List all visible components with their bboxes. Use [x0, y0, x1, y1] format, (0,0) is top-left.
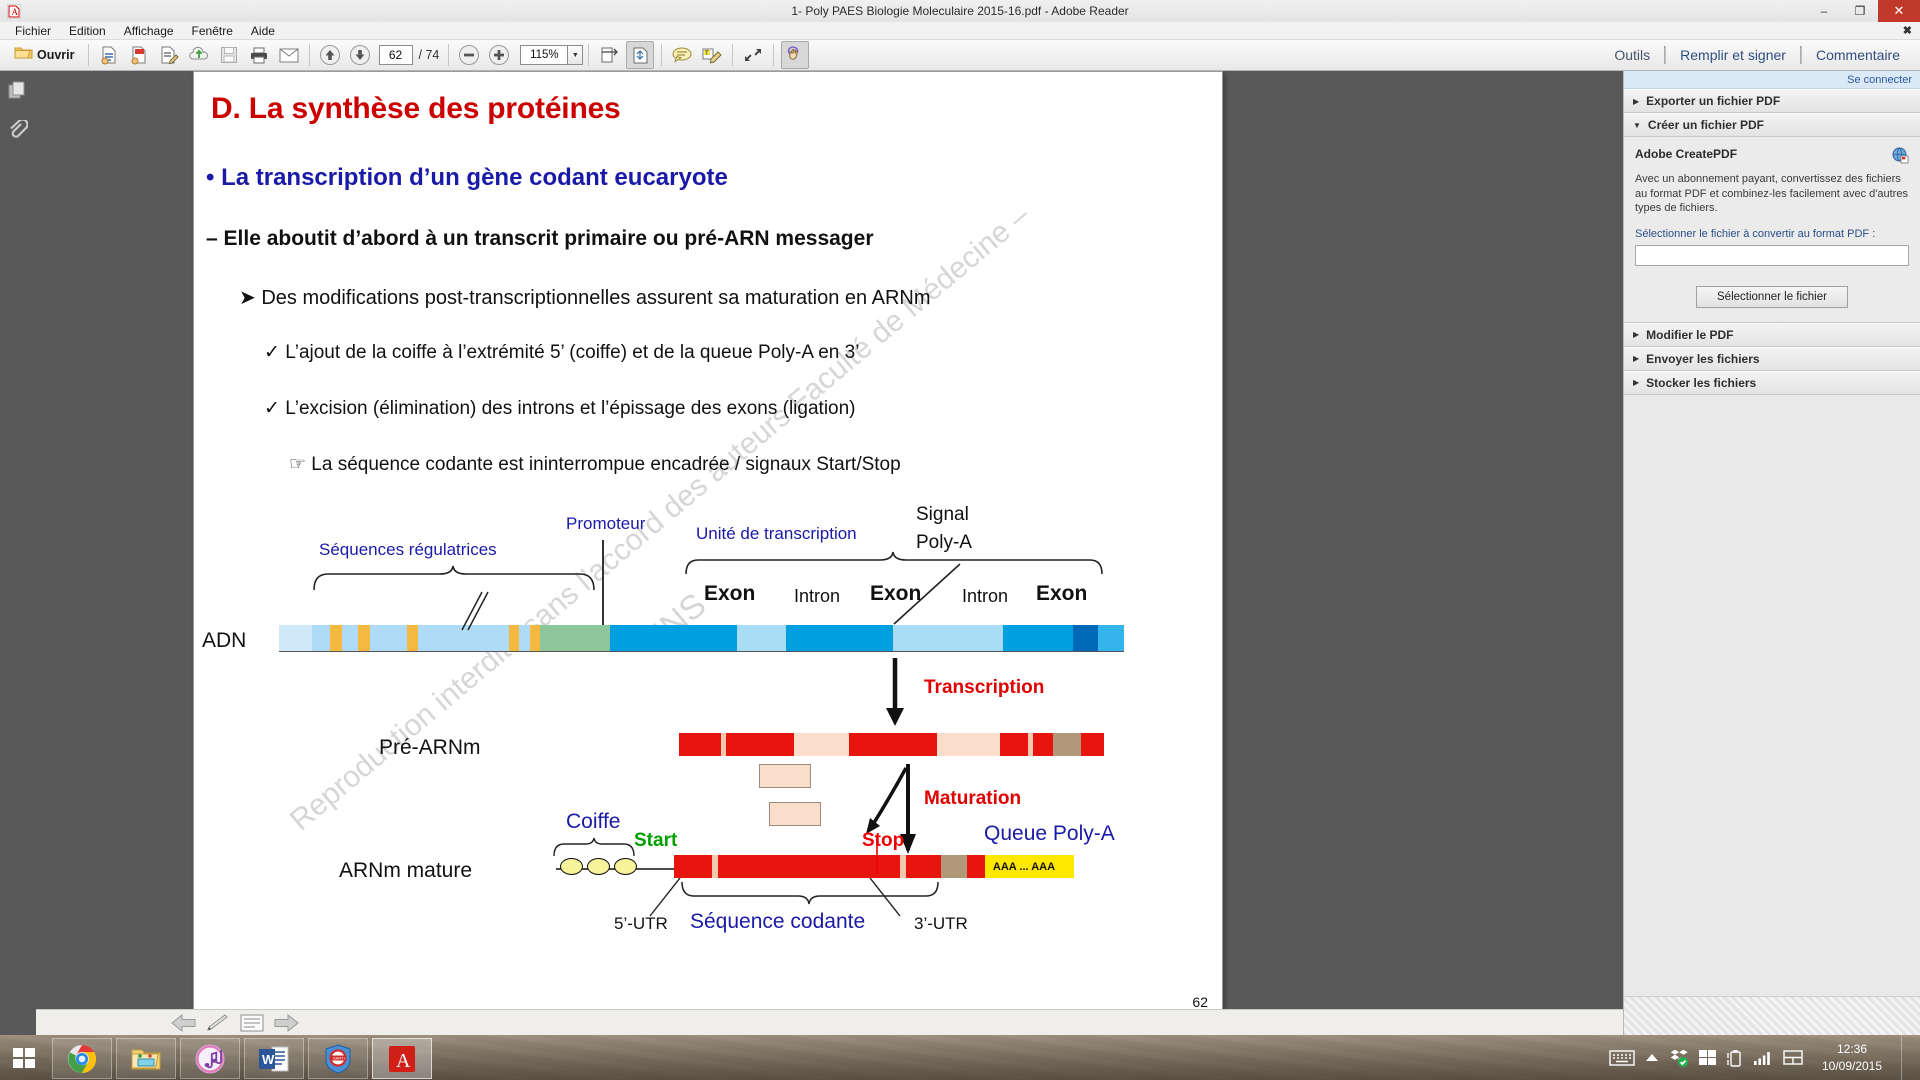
zoom-out-icon[interactable]	[456, 42, 482, 68]
createpdf-description: Avec un abonnement payant, convertissez …	[1635, 172, 1909, 216]
segment-12	[610, 625, 738, 651]
page-total-label: / 74	[419, 48, 440, 62]
menu-fenetre[interactable]: Fenêtre	[183, 22, 242, 40]
print-icon[interactable]	[246, 42, 272, 68]
segment-0	[674, 855, 712, 878]
svg-text:T: T	[705, 51, 709, 57]
polya-tail-label: AAA ... AAA	[985, 858, 1063, 875]
cap-oval-2	[587, 858, 610, 875]
createpdf-panel: Adobe CreatePDF Avec un abonnement payan…	[1624, 137, 1920, 323]
window-title: 1- Poly PAES Biologie Moleculaire 2015-1…	[0, 0, 1920, 22]
brace-coiffe	[552, 836, 637, 858]
segment-6	[407, 625, 419, 651]
main-toolbar: Ouvrir 62 / 74	[0, 40, 1920, 71]
slide-bullet-4: ✓ L’ajout de la coiffe à l’extrémité 5’ …	[264, 341, 859, 364]
signin-link[interactable]: Se connecter	[1847, 74, 1912, 86]
segment-4	[906, 855, 941, 878]
segment-4	[358, 625, 370, 651]
label-coiffe: Coiffe	[566, 810, 620, 834]
comment-icon[interactable]	[669, 42, 695, 68]
toolbar-separator-6	[732, 44, 733, 66]
touch-keyboard-icon[interactable]	[1609, 1049, 1635, 1067]
segment-18	[1098, 625, 1124, 651]
window-controls: – ❐ ✕	[1806, 0, 1920, 22]
segment-9	[519, 625, 529, 651]
show-hidden-icons-icon[interactable]	[1645, 1053, 1659, 1063]
pdf-page: Reproduction interdite sans l’accord des…	[193, 71, 1223, 1019]
section-stocker-fichiers-label: Stocker les fichiers	[1646, 376, 1756, 390]
tools-right-panel: Se connecter ▶ Exporter un fichier PDF ▼…	[1623, 71, 1920, 1035]
section-creer-pdf[interactable]: ▼ Créer un fichier PDF	[1624, 113, 1920, 137]
label-intron-1: Intron	[794, 586, 840, 607]
previous-view-icon[interactable]	[171, 1013, 197, 1033]
email-icon[interactable]	[276, 42, 302, 68]
windows-taskbar: W SARTI A	[0, 1035, 1920, 1080]
excised-intron-box-2	[769, 802, 821, 826]
select-hand-icon[interactable]	[781, 41, 809, 69]
label-utr3: 3’-UTR	[914, 914, 968, 934]
slide-page-number: 62	[1192, 994, 1208, 1010]
menu-aide[interactable]: Aide	[242, 22, 284, 40]
highlight-text-icon[interactable]: T	[699, 42, 725, 68]
section-exporter-pdf[interactable]: ▶ Exporter un fichier PDF	[1624, 89, 1920, 113]
excised-intron-box-1	[759, 764, 811, 788]
chevron-down-icon: ▼	[1633, 121, 1641, 130]
document-bottom-nav	[36, 1009, 1624, 1035]
segment-6	[967, 855, 985, 878]
create-pdf-icon[interactable]	[96, 42, 122, 68]
page-thumbnails-icon[interactable]	[0, 71, 36, 111]
tool-remplir-signer-link[interactable]: Remplir et signer	[1666, 47, 1800, 63]
svg-text:SARTI: SARTI	[333, 1055, 345, 1060]
page-display-icon[interactable]	[239, 1013, 265, 1033]
label-queue-polya: Queue Poly-A	[984, 822, 1115, 846]
left-navigation-rail	[0, 71, 37, 1035]
label-unite-transcription: Unité de transcription	[696, 524, 857, 544]
segment-10	[1081, 733, 1104, 756]
slide-bullet-5: ✓ L’excision (élimination) des introns e…	[264, 397, 856, 420]
createpdf-globe-icon	[1892, 147, 1909, 167]
chevron-right-icon: ▶	[1633, 378, 1639, 387]
section-modifier-pdf[interactable]: ▶ Modifier le PDF	[1624, 323, 1920, 347]
label-maturation: Maturation	[924, 788, 1021, 810]
segment-14	[786, 625, 893, 651]
open-button-label: Ouvrir	[37, 48, 75, 62]
segment-0	[279, 625, 312, 651]
taskitem-antivirus[interactable]: SARTI	[308, 1038, 368, 1079]
document-viewport[interactable]: Reproduction interdite sans l’accord des…	[36, 71, 1624, 1035]
adobe-reader-window: A 1- Poly PAES Biologie Moleculaire 2015…	[0, 0, 1920, 1080]
section-envoyer-fichiers-label: Envoyer les fichiers	[1646, 352, 1759, 366]
toolbar-right-links: Outils Remplir et signer Commentaire	[1600, 46, 1914, 64]
next-view-icon[interactable]	[273, 1013, 299, 1033]
menu-bar: Fichier Edition Affichage Fenêtre Aide ✖	[0, 22, 1920, 40]
title-bar: A 1- Poly PAES Biologie Moleculaire 2015…	[0, 0, 1920, 23]
toolbar-separator-7	[773, 44, 774, 66]
fit-width-icon[interactable]	[596, 42, 622, 68]
label-exon-2: Exon	[870, 582, 921, 606]
export-pdf-icon[interactable]	[126, 42, 152, 68]
label-arnm-mature: ARNm mature	[339, 859, 472, 883]
label-sequences-regulatrices: Séquences régulatrices	[319, 540, 497, 560]
open-button[interactable]: Ouvrir	[6, 41, 83, 69]
zoom-dropdown-caret-icon[interactable]: ▼	[567, 45, 583, 65]
windows-start-icon[interactable]	[0, 1035, 48, 1080]
page-down-icon[interactable]	[347, 42, 373, 68]
label-intron-2: Intron	[962, 586, 1008, 607]
segment-6	[1000, 733, 1028, 756]
slide-bullet-2: – Elle aboutit d’abord à un transcrit pr…	[206, 227, 874, 251]
segment-1	[312, 625, 331, 651]
section-envoyer-fichiers[interactable]: ▶ Envoyer les fichiers	[1624, 347, 1920, 371]
createpdf-select-label: Sélectionner le fichier à convertir au f…	[1635, 228, 1909, 240]
segment-0	[679, 733, 721, 756]
menu-affichage[interactable]: Affichage	[115, 22, 183, 40]
chevron-right-icon: ▶	[1633, 330, 1639, 339]
segment-9	[1053, 733, 1081, 756]
segment-10	[530, 625, 540, 651]
menu-edition[interactable]: Edition	[60, 22, 115, 40]
signin-bar: Se connecter	[1624, 71, 1920, 89]
label-signal-polya-line1: Signal	[916, 504, 969, 526]
slide-bullet-3: ➤ Des modifications post-transcriptionne…	[239, 285, 931, 310]
windows-flag-icon[interactable]	[1699, 1049, 1717, 1067]
battery-icon[interactable]	[1727, 1048, 1743, 1068]
label-start: Start	[634, 830, 677, 852]
pre-arnm-bar	[679, 733, 1104, 756]
edit-pdf-icon[interactable]	[156, 42, 182, 68]
segment-3	[342, 625, 358, 651]
slide-bullet-6: ☞ La séquence codante est ininterrompue …	[289, 453, 901, 476]
label-exon-1: Exon	[704, 582, 755, 606]
cap-oval-1	[560, 858, 583, 875]
chevron-right-icon: ▶	[1633, 97, 1639, 106]
toolbar-separator	[88, 44, 89, 66]
svg-text:A: A	[396, 1050, 411, 1072]
slide-content: Reproduction interdite sans l’accord des…	[194, 72, 1222, 1018]
label-promoteur: Promoteur	[566, 514, 645, 534]
maximize-button[interactable]: ❐	[1842, 0, 1878, 22]
segment-4	[849, 733, 937, 756]
section-modifier-pdf-label: Modifier le PDF	[1646, 328, 1733, 342]
label-exon-3: Exon	[1036, 582, 1087, 606]
toolbar-separator-5	[661, 44, 662, 66]
segment-17	[1073, 625, 1099, 651]
segment-5	[370, 625, 407, 651]
segment-11	[540, 625, 610, 651]
panel-hatched-filler	[1624, 996, 1920, 1035]
taskitem-explorer[interactable]	[116, 1038, 176, 1079]
upload-cloud-icon[interactable]	[186, 42, 212, 68]
page-number-input[interactable]: 62	[379, 45, 413, 65]
menu-fichier[interactable]: Fichier	[6, 22, 60, 40]
dna-bar	[279, 625, 1124, 652]
toolbar-separator-2	[309, 44, 310, 66]
network-signal-icon[interactable]	[1753, 1050, 1773, 1066]
stop-pointer-line	[870, 838, 884, 880]
close-document-icon[interactable]: ✖	[1903, 24, 1912, 37]
segment-8	[509, 625, 519, 651]
section-exporter-pdf-label: Exporter un fichier PDF	[1646, 94, 1780, 108]
fullscreen-icon[interactable]	[740, 42, 766, 68]
toolbar-separator-4	[588, 44, 589, 66]
save-icon[interactable]	[216, 42, 242, 68]
createpdf-header: Adobe CreatePDF	[1635, 147, 1909, 167]
taskitem-word[interactable]: W	[244, 1038, 304, 1079]
section-stocker-fichiers[interactable]: ▶ Stocker les fichiers	[1624, 371, 1920, 395]
segment-16	[1003, 625, 1073, 651]
close-button[interactable]: ✕	[1878, 0, 1920, 22]
open-folder-icon	[14, 45, 33, 65]
dna-break-slash-icon	[452, 590, 492, 632]
segment-5	[937, 733, 1000, 756]
section-creer-pdf-label: Créer un fichier PDF	[1648, 118, 1764, 132]
label-transcription: Transcription	[924, 677, 1044, 699]
segment-8	[1033, 733, 1053, 756]
taskitem-itunes[interactable]	[180, 1038, 240, 1079]
dropbox-icon[interactable]	[1669, 1048, 1689, 1068]
chevron-right-icon: ▶	[1633, 354, 1639, 363]
clock-time: 12:36	[1813, 1041, 1891, 1057]
createpdf-title: Adobe CreatePDF	[1635, 147, 1737, 161]
label-pre-arnm: Pré-ARNm	[379, 736, 481, 760]
segment-15	[893, 625, 1003, 651]
page-up-icon[interactable]	[317, 42, 343, 68]
segment-2	[726, 733, 794, 756]
createpdf-button-wrap: Sélectionner le fichier	[1635, 286, 1909, 308]
segment-5	[941, 855, 967, 878]
taskitem-acrobat[interactable]: A	[372, 1038, 432, 1079]
fit-page-icon[interactable]	[626, 41, 654, 69]
segment-2	[330, 625, 342, 651]
gene-transcription-diagram: Séquences régulatrices Promoteur Unité d…	[194, 492, 1222, 1012]
slide-title: D. La synthèse des protéines	[211, 92, 621, 126]
attachments-icon[interactable]	[0, 111, 36, 151]
taskbar-items: W SARTI A	[52, 1038, 432, 1079]
system-tray: 12:36 10/09/2015	[1609, 1035, 1920, 1080]
pen-tool-icon[interactable]	[205, 1013, 231, 1033]
minimize-button[interactable]: –	[1806, 0, 1842, 22]
tool-commentaire-link[interactable]: Commentaire	[1802, 47, 1914, 63]
slide-bullet-1: • La transcription d’un gène codant euca…	[206, 164, 728, 192]
cap-ovals	[560, 858, 637, 875]
taskbar-clock[interactable]: 12:36 10/09/2015	[1813, 1041, 1891, 1073]
zoom-in-icon[interactable]	[486, 42, 512, 68]
brace-sequences-regulatrices	[312, 564, 597, 592]
segment-3	[794, 733, 849, 756]
zoom-level-input[interactable]: 115%	[520, 45, 567, 65]
select-file-button[interactable]: Sélectionner le fichier	[1696, 286, 1848, 308]
label-sequence-codante: Séquence codante	[690, 910, 865, 934]
createpdf-file-input[interactable]	[1635, 245, 1909, 266]
brace-sequence-codante	[680, 880, 940, 906]
label-utr5: 5’-UTR	[614, 914, 668, 934]
promoteur-pointer-line	[602, 540, 604, 626]
toolbar-separator-3	[448, 44, 449, 66]
label-adn: ADN	[202, 629, 246, 653]
show-desktop-button[interactable]	[1901, 1035, 1910, 1080]
action-center-icon[interactable]	[1783, 1050, 1803, 1065]
segment-13	[737, 625, 786, 651]
tool-outils-link[interactable]: Outils	[1600, 47, 1664, 63]
clock-date: 10/09/2015	[1813, 1058, 1891, 1074]
transcription-arrow-icon	[882, 658, 908, 728]
taskitem-chrome[interactable]	[52, 1038, 112, 1079]
svg-text:W: W	[262, 1052, 275, 1067]
cap-oval-3	[614, 858, 637, 875]
